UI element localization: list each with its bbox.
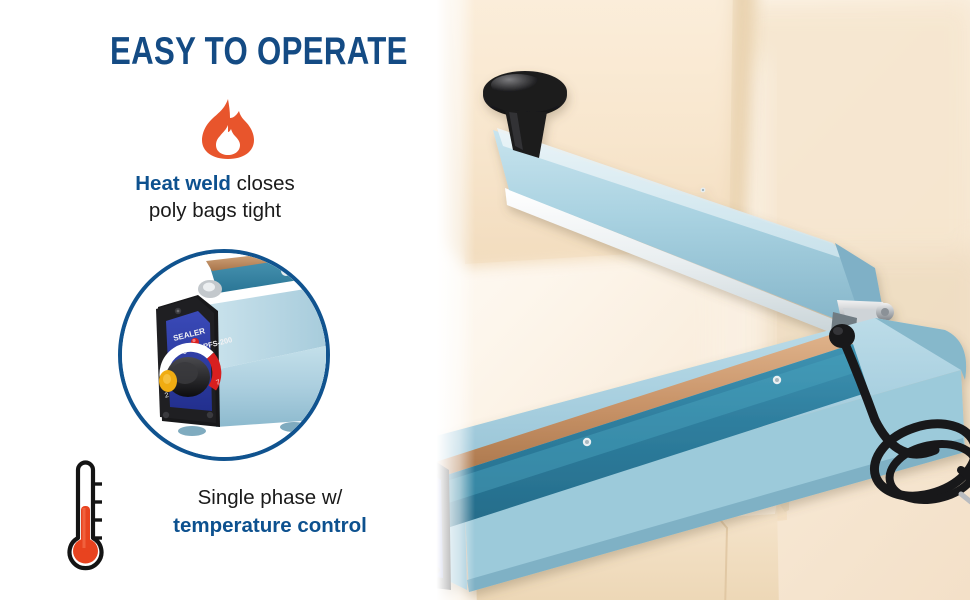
feature-two-line-1: Single phase w/ [120, 484, 420, 512]
control-panel-closeup-circle: SEALER PFS-200 3 4 5 6 2 [118, 249, 330, 461]
info-panel: EASY TO OPERATE Heat weld closes poly ba… [0, 0, 430, 600]
page-title: EASY TO OPERATE [110, 30, 408, 74]
feature-one-rest: closes [231, 172, 295, 195]
thermometer-icon [64, 456, 110, 574]
main-product-photo [405, 0, 970, 600]
feature-one-line-2: poly bags tight [0, 197, 430, 224]
feature-two-caption: Single phase w/ temperature control [120, 484, 420, 540]
feature-two-bold: temperature control [120, 512, 420, 540]
product-feature-banner: EASY TO OPERATE Heat weld closes poly ba… [0, 0, 970, 600]
feature-one-caption: Heat weld closes poly bags tight [0, 170, 430, 224]
feature-one-bold: Heat weld [135, 172, 231, 195]
flame-icon [200, 98, 256, 160]
control-panel-closeup-image: SEALER PFS-200 3 4 5 6 2 [118, 249, 330, 461]
feature-one-line-1: Heat weld closes [0, 170, 430, 197]
